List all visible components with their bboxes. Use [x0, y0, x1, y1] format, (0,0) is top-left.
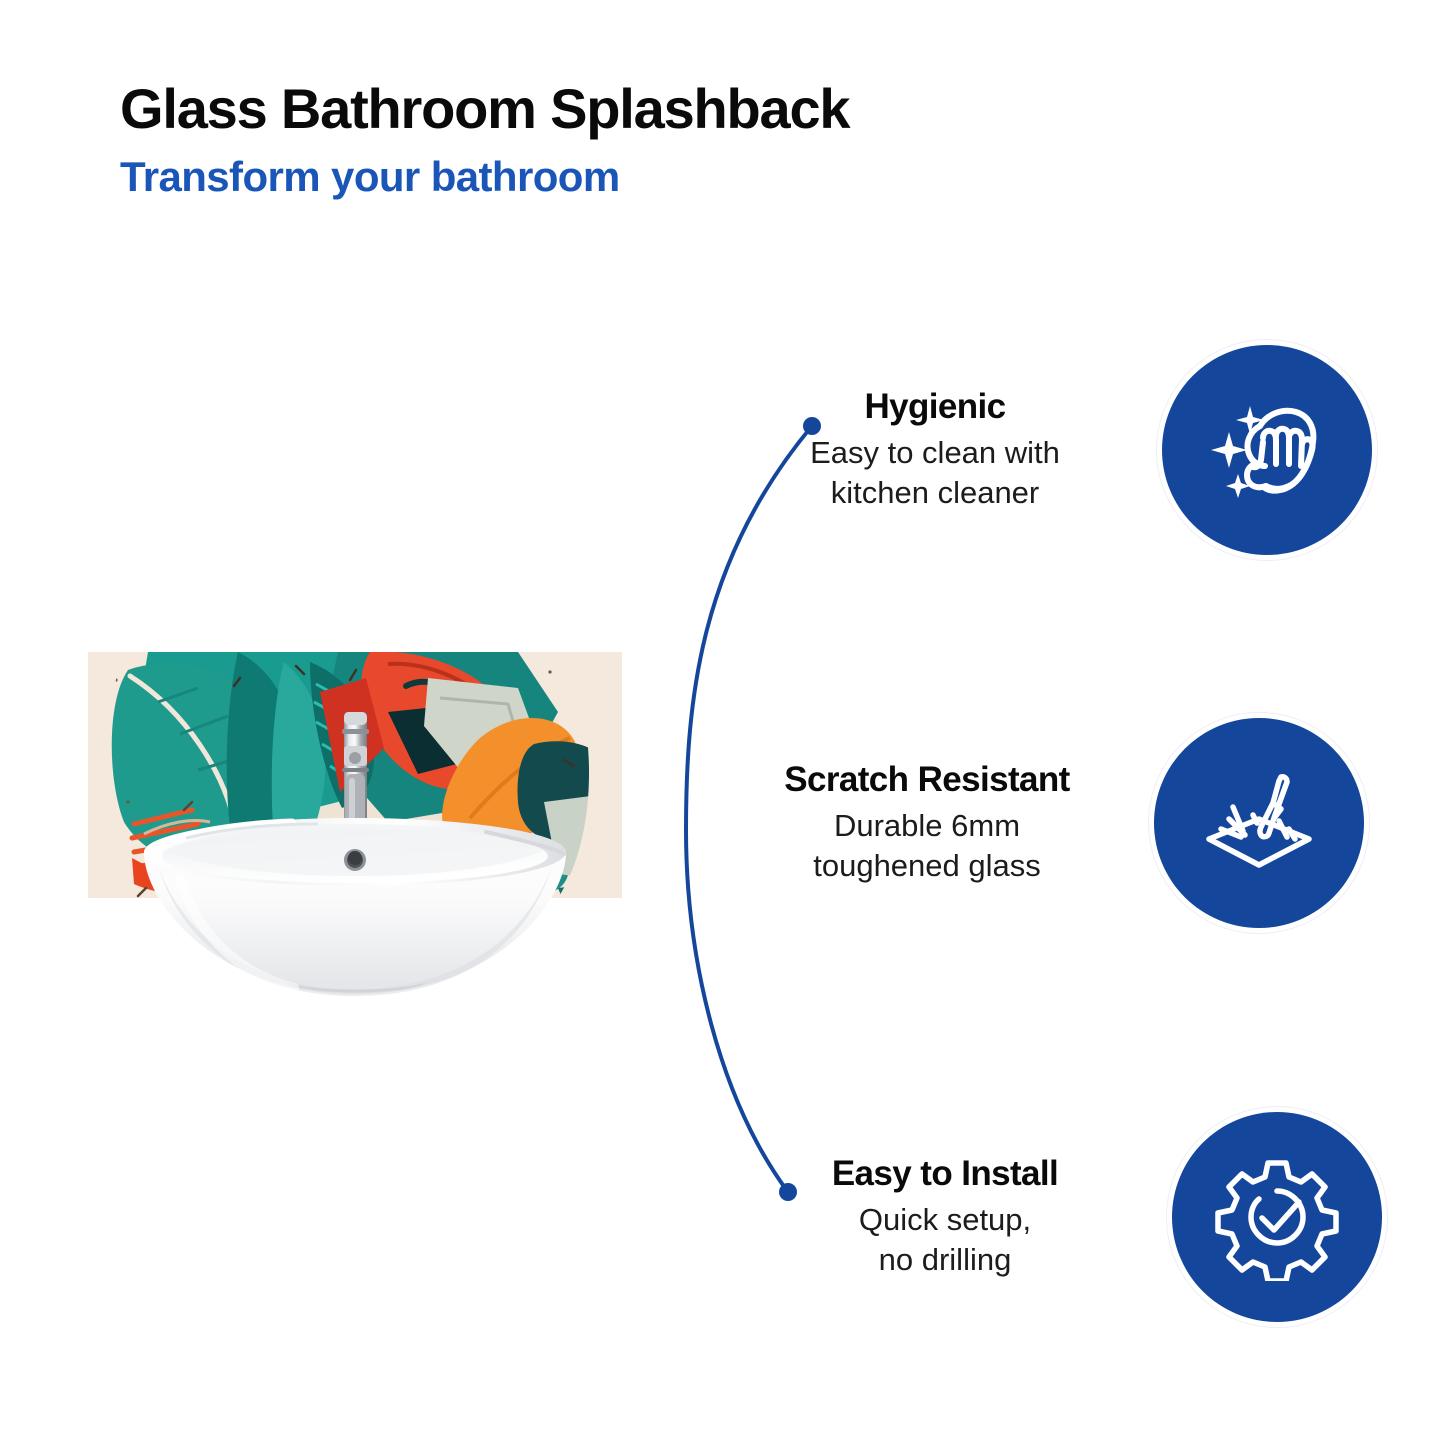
feature-desc-line: Easy to clean with	[760, 433, 1110, 473]
feature-desc-line: Quick setup,	[770, 1200, 1120, 1240]
faucet	[342, 712, 369, 834]
page-title: Glass Bathroom Splashback	[120, 80, 1120, 139]
gear-check-icon	[1213, 1153, 1341, 1281]
feature-desc-line: no drilling	[770, 1240, 1120, 1280]
feature-text-block: Hygienic Easy to clean with kitchen clea…	[760, 387, 1110, 513]
feature-desc-line: Durable 6mm	[752, 806, 1102, 846]
feature-description: Easy to clean with kitchen cleaner	[760, 433, 1110, 512]
feature-icon-badge	[1162, 345, 1372, 555]
feature-easy-to-install: Easy to Install Quick setup, no drilling	[770, 1112, 1382, 1322]
feature-title: Easy to Install	[770, 1154, 1120, 1194]
hand-wipe-sparkle-icon	[1203, 386, 1331, 514]
product-image	[88, 652, 622, 1005]
feature-hygienic: Hygienic Easy to clean with kitchen clea…	[760, 345, 1372, 555]
page-subtitle: Transform your bathroom	[120, 155, 1120, 199]
feature-text-block: Easy to Install Quick setup, no drilling	[770, 1154, 1120, 1280]
feature-desc-line: kitchen cleaner	[760, 473, 1110, 513]
feature-description: Durable 6mm toughened glass	[752, 806, 1102, 885]
header: Glass Bathroom Splashback Transform your…	[120, 80, 1120, 199]
feature-icon-badge	[1172, 1112, 1382, 1322]
feature-icon-badge	[1154, 718, 1364, 928]
feature-title: Scratch Resistant	[752, 760, 1102, 800]
feature-description: Quick setup, no drilling	[770, 1200, 1120, 1279]
feature-text-block: Scratch Resistant Durable 6mm toughened …	[752, 760, 1102, 886]
feature-scratch-resistant: Scratch Resistant Durable 6mm toughened …	[752, 718, 1364, 928]
feature-title: Hygienic	[760, 387, 1110, 427]
wash-basin	[144, 818, 566, 996]
blade-scratch-surface-icon	[1195, 759, 1323, 887]
feature-desc-line: toughened glass	[752, 846, 1102, 886]
